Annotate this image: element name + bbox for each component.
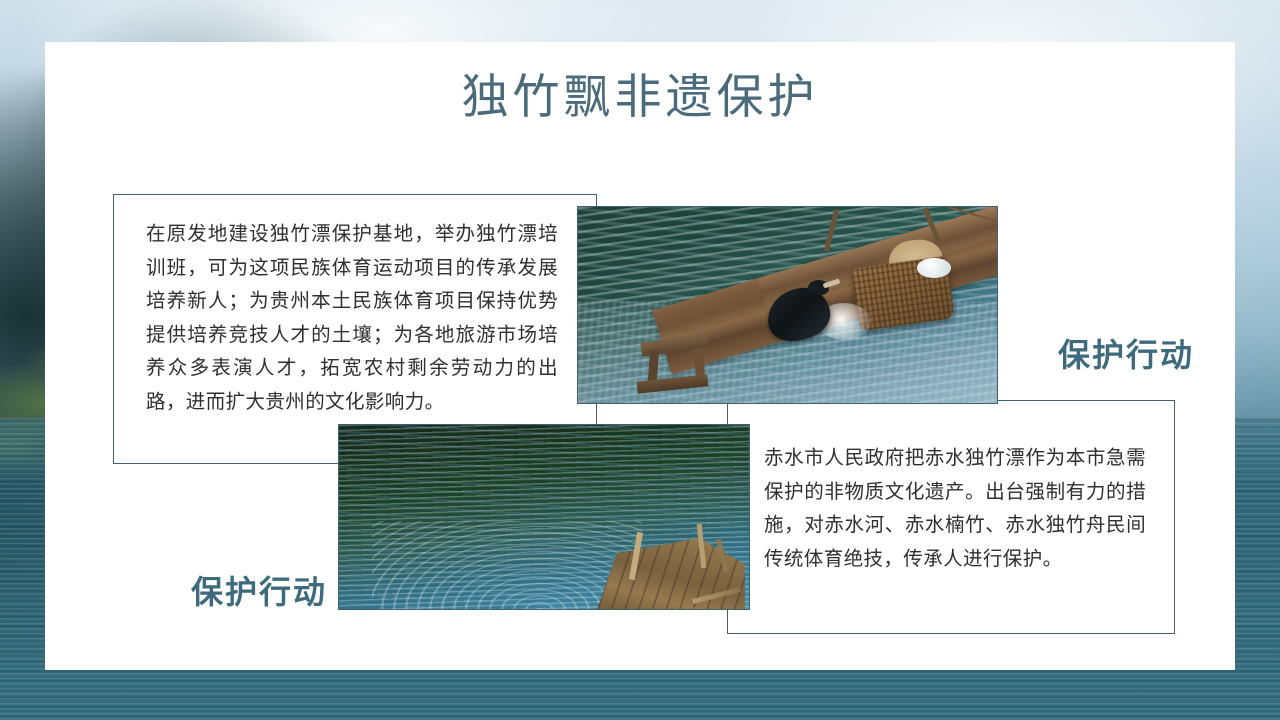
section-heading-action-1: 保护行动 — [1058, 330, 1194, 376]
body-text-action-1: 在原发地建设独竹漂保护基地，举办独竹漂培训班，可为这项民族体育运动项目的传承发展… — [146, 218, 558, 419]
photo-bamboo-raft-cormorant — [577, 206, 998, 404]
photo-raft-inner — [578, 207, 997, 403]
photo-green-lake-dock — [338, 424, 750, 610]
section-heading-action-2: 保护行动 — [191, 567, 327, 613]
content-card: 独竹飘非遗保护 — [45, 42, 1235, 670]
body-text-action-2: 赤水市人民政府把赤水独竹漂作为本市急需保护的非物质文化遗产。出台强制有力的措施，… — [764, 442, 1146, 576]
white-bowl — [917, 258, 951, 278]
page-title: 独竹飘非遗保护 — [45, 70, 1235, 126]
slide-canvas: 独竹飘非遗保护 — [0, 0, 1280, 720]
photo-lake-inner — [339, 425, 749, 609]
